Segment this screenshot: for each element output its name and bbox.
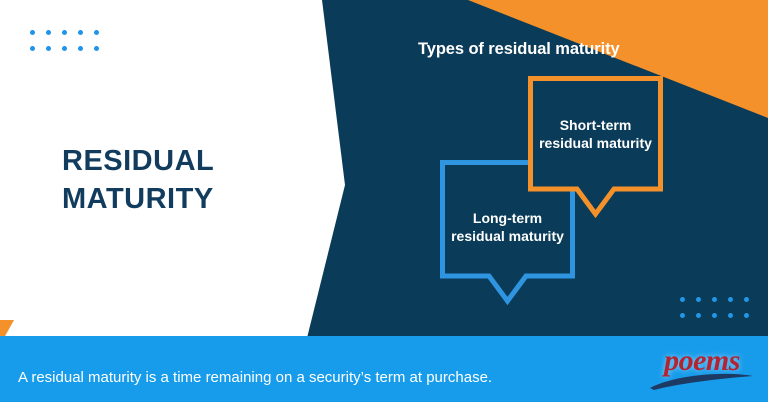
dot xyxy=(680,313,685,318)
dot-grid-bottom-right-icon xyxy=(680,297,760,329)
poems-swoosh-icon xyxy=(648,370,756,392)
dot xyxy=(46,30,51,35)
dot xyxy=(696,313,701,318)
bubble-short-term-label: Short-term residual maturity xyxy=(528,117,663,153)
dot xyxy=(744,297,749,302)
dot-grid-top-left-icon xyxy=(30,30,110,62)
dot xyxy=(62,30,67,35)
dot xyxy=(680,297,685,302)
section-heading: Types of residual maturity xyxy=(418,40,718,59)
dot xyxy=(62,46,67,51)
infographic-canvas: RESIDUAL MATURITY Types of residual matu… xyxy=(0,0,768,402)
dot xyxy=(728,313,733,318)
page-title: RESIDUAL MATURITY xyxy=(62,142,312,219)
dot xyxy=(728,297,733,302)
dot xyxy=(712,297,717,302)
dot xyxy=(696,297,701,302)
dot xyxy=(78,30,83,35)
dot xyxy=(30,30,35,35)
dot xyxy=(94,30,99,35)
dot xyxy=(94,46,99,51)
dot xyxy=(46,46,51,51)
dot xyxy=(744,313,749,318)
dot xyxy=(78,46,83,51)
banner-description: A residual maturity is a time remaining … xyxy=(18,367,618,390)
dot xyxy=(712,313,717,318)
bubble-short-term[interactable]: Short-term residual maturity xyxy=(528,76,663,218)
poems-logo[interactable]: poems xyxy=(648,340,756,394)
dot xyxy=(30,46,35,51)
